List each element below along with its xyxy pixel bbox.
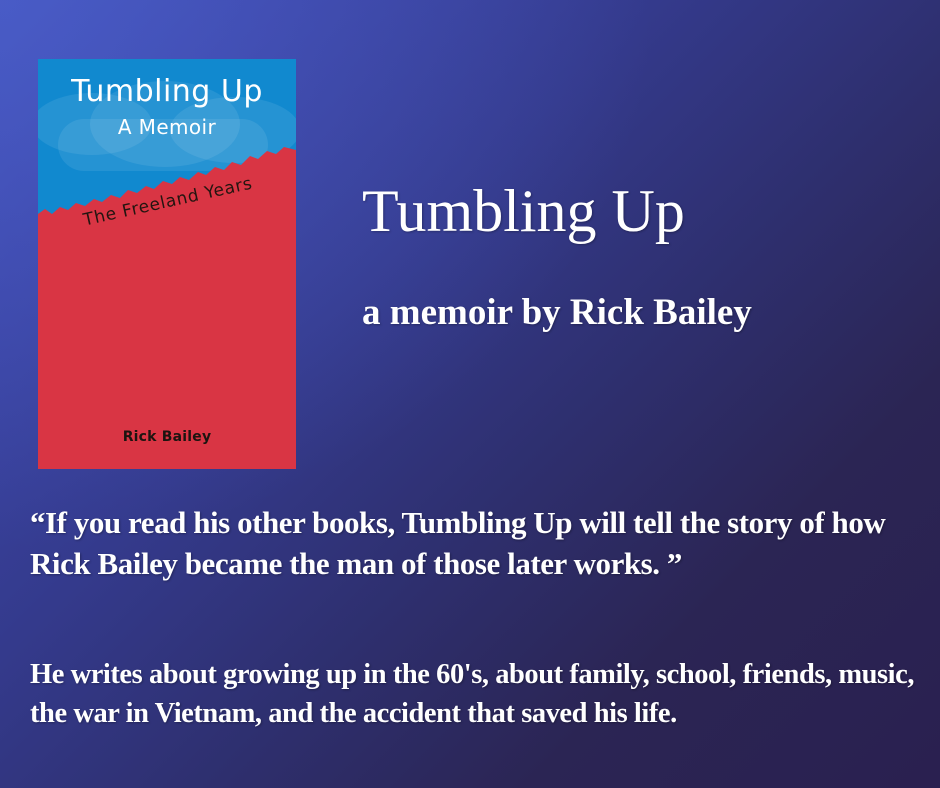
book-description: He writes about growing up in the 60's, … — [30, 655, 935, 734]
cover-author-name: Rick Bailey — [38, 429, 296, 445]
page-title: Tumbling Up — [362, 180, 685, 243]
torn-paper-shape — [38, 59, 296, 469]
book-cover-image: Tumbling Up A Memoir The Freeland Years … — [38, 59, 296, 469]
page-byline: a memoir by Rick Bailey — [362, 293, 752, 334]
review-quote: “If you read his other books, Tumbling U… — [30, 503, 916, 585]
promotional-slide: Tumbling Up A Memoir The Freeland Years … — [0, 0, 940, 788]
